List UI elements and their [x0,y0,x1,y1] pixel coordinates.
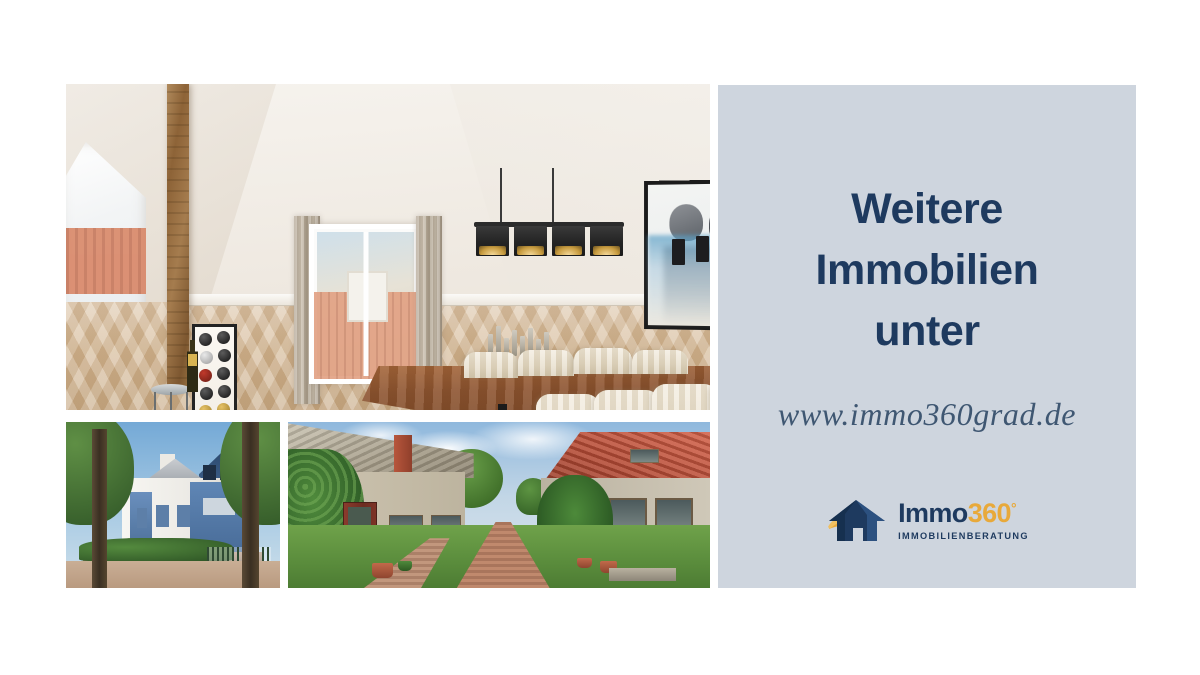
room-scene [66,84,710,410]
villa-tower-window-1 [203,465,216,480]
villa-window-1 [137,508,148,528]
chair-far-3 [574,348,632,374]
roof-tiles-view [66,228,146,294]
photo-interior-dining-room [66,84,710,410]
brand-tagline: IMMOBILIENBERATUNG [898,531,1029,541]
headline-line-2: Immobilien [816,240,1039,301]
right-roof-window [630,449,660,464]
brand-primary: Immo [898,500,968,527]
chair-2 [594,390,660,410]
wooden-post-beam [167,84,189,390]
chair-far-4 [632,350,688,374]
photo-garden-courtyard [288,422,710,588]
headline-line-1: Weitere [816,179,1039,240]
brand-name: Immo 360 ° [898,500,1016,527]
brand-degree-symbol: ° [1011,501,1016,515]
villa-trunk-right [242,422,259,588]
headline-line-3: unter [816,301,1039,362]
dormer-window [309,224,422,384]
photo-blue-villa [66,422,280,588]
chair-3 [652,384,710,410]
website-url[interactable]: www.immo360grad.de [778,396,1076,433]
chair-far-2 [518,350,574,376]
villa-window-3 [177,505,190,527]
house-with-swoosh-icon [825,495,887,545]
brand-wordmark: Immo 360 ° IMMOBILIENBERATUNG [898,500,1029,541]
speaker-left [672,239,685,265]
brand-accent: 360 [968,500,1011,527]
flower-pot-4 [577,558,592,568]
page-title: Weitere Immobilien unter [816,179,1039,362]
chair-1 [536,394,600,410]
promo-panel: Weitere Immobilien unter www.immo360grad… [718,85,1136,588]
villa-fence [207,547,271,562]
villa-trunk-left [92,429,107,588]
champagne-bottle [187,340,198,392]
banner-canvas: Weitere Immobilien unter www.immo360grad… [0,0,1200,675]
side-table [151,384,191,410]
pendant-lamp [474,168,624,273]
chair-far-1 [464,352,518,378]
window-mullion [363,232,368,376]
flower-pot-1 [372,563,393,578]
baseboard [186,294,710,306]
garden-bench [609,568,677,581]
speaker-right [696,236,709,262]
table-leg-right [498,404,507,410]
wine-rack [192,324,237,410]
brand-logo[interactable]: Immo 360 ° IMMOBILIENBERATUNG [825,495,1029,545]
villa-window-2 [156,505,169,527]
